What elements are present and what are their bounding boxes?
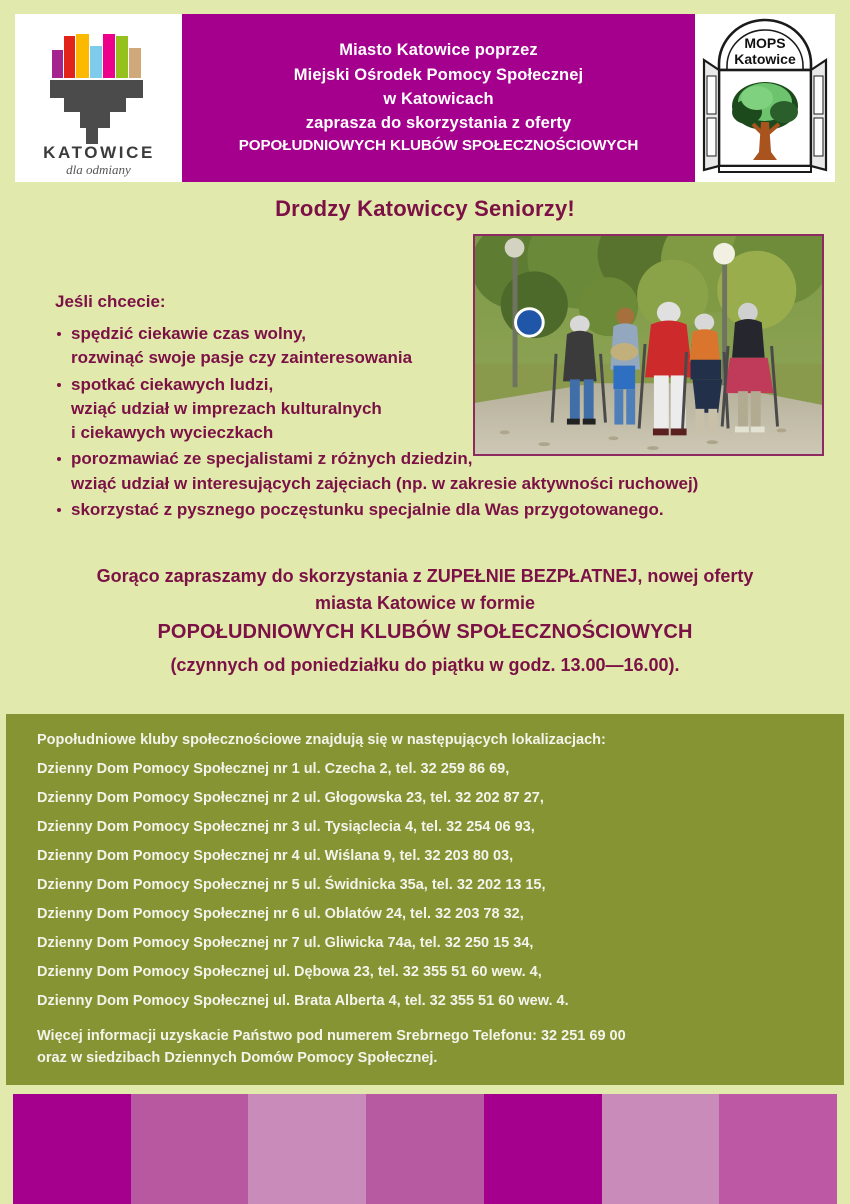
panel-footer-line-1: Więcej informacji uzyskacie Państwo pod …: [37, 1026, 844, 1048]
location-item-9: Dzienny Dom Pomocy Społecznej ul. Brata …: [37, 993, 844, 1009]
footer-bar-7: [719, 1094, 837, 1204]
closing-line-4: (czynnych od poniedziałku do piątku w go…: [0, 652, 850, 679]
location-item-6: Dzienny Dom Pomocy Społecznej nr 6 ul. O…: [37, 906, 844, 922]
footer-color-bars: [13, 1094, 837, 1204]
banner-line-2: Miejski Ośrodek Pomocy Społecznej: [294, 63, 583, 87]
banner-line-5: POPOŁUDNIOWYCH KLUBÓW SPOŁECZNOŚCIOWYCH: [239, 135, 638, 157]
bullet-2-line-1: spotkać ciekawych ludzi,: [71, 373, 835, 397]
closing-block: Gorąco zapraszamy do skorzystania z ZUPE…: [0, 563, 850, 679]
panel-footer-line-2: oraz w siedzibach Dziennych Domów Pomocy…: [37, 1048, 844, 1070]
footer-bar-5: [484, 1094, 602, 1204]
list-item: skorzystać z pysznego poczęstunku specja…: [55, 498, 835, 522]
footer-bar-4: [366, 1094, 484, 1204]
location-item-2: Dzienny Dom Pomocy Społecznej nr 2 ul. G…: [37, 790, 844, 806]
banner-line-3: w Katowicach: [383, 87, 493, 111]
poster-page: { "colors": { "page_background": "#e2e9a…: [0, 0, 850, 1204]
closing-line-2: miasta Katowice w formie: [0, 590, 850, 617]
closing-line-3: POPOŁUDNIOWYCH KLUBÓW SPOŁECZNOŚCIOWYCH: [0, 617, 850, 647]
bullet-1-line-2: rozwinąć swoje pasje czy zainteresowania: [71, 346, 835, 370]
svg-text:Katowice: Katowice: [734, 51, 796, 67]
bullet-3-line-1: porozmawiać ze specjalistami z różnych d…: [71, 447, 835, 471]
banner-line-1: Miasto Katowice poprzez: [339, 38, 538, 62]
bullet-1-line-1: spędzić ciekawie czas wolny,: [71, 322, 835, 346]
footer-bar-3: [248, 1094, 366, 1204]
svg-text:MOPS: MOPS: [744, 35, 785, 51]
bullet-2-line-3: i ciekawych wycieczkach: [71, 421, 835, 445]
katowice-logo-tagline: dla odmiany: [66, 162, 131, 178]
closing-line-1: Gorąco zapraszamy do skorzystania z ZUPE…: [0, 563, 850, 590]
list-item: spędzić ciekawie czas wolny, rozwinąć sw…: [55, 322, 835, 371]
mops-logo: MOPS Katowice: [695, 14, 835, 182]
banner-line-4: zaprasza do skorzystania z oferty: [306, 111, 572, 135]
locations-heading: Popołudniowe kluby społecznościowe znajd…: [37, 732, 844, 748]
footer-bar-2: [131, 1094, 249, 1204]
mops-window-tree-icon: MOPS Katowice: [699, 18, 831, 178]
location-item-8: Dzienny Dom Pomocy Społecznej ul. Dębowa…: [37, 964, 844, 980]
intro-lead: Jeśli chcecie:: [55, 292, 166, 312]
location-item-7: Dzienny Dom Pomocy Społecznej nr 7 ul. G…: [37, 935, 844, 951]
bullet-4-line-1: skorzystać z pysznego poczęstunku specja…: [71, 498, 835, 522]
location-item-4: Dzienny Dom Pomocy Społecznej nr 4 ul. W…: [37, 848, 844, 864]
list-item: porozmawiać ze specjalistami z różnych d…: [55, 447, 835, 496]
location-item-1: Dzienny Dom Pomocy Społecznej nr 1 ul. C…: [37, 761, 844, 777]
locations-panel: Popołudniowe kluby społecznościowe znajd…: [6, 714, 844, 1085]
header-banner-row: KATOWICE dla odmiany Miasto Katowice pop…: [15, 14, 835, 182]
list-item: spotkać ciekawych ludzi, wziąć udział w …: [55, 373, 835, 446]
footer-bar-1: [13, 1094, 131, 1204]
page-title: Drodzy Katowiccy Seniorzy!: [0, 196, 850, 222]
header-banner-text: Miasto Katowice poprzez Miejski Ośrodek …: [182, 14, 695, 182]
bullet-2-line-2: wziąć udział w imprezach kulturalnych: [71, 397, 835, 421]
svg-text:KATOWICE: KATOWICE: [43, 143, 155, 162]
location-item-3: Dzienny Dom Pomocy Społecznej nr 3 ul. T…: [37, 819, 844, 835]
bullet-3-line-2: wziąć udział w interesujących zajęciach …: [71, 472, 835, 496]
benefits-list: spędzić ciekawie czas wolny, rozwinąć sw…: [55, 322, 835, 524]
katowice-logo: KATOWICE dla odmiany: [15, 14, 182, 182]
panel-footer: Więcej informacji uzyskacie Państwo pod …: [37, 1026, 844, 1070]
location-item-5: Dzienny Dom Pomocy Społecznej nr 5 ul. Ś…: [37, 877, 844, 893]
katowice-logo-icon: KATOWICE: [24, 18, 174, 168]
footer-bar-6: [602, 1094, 720, 1204]
